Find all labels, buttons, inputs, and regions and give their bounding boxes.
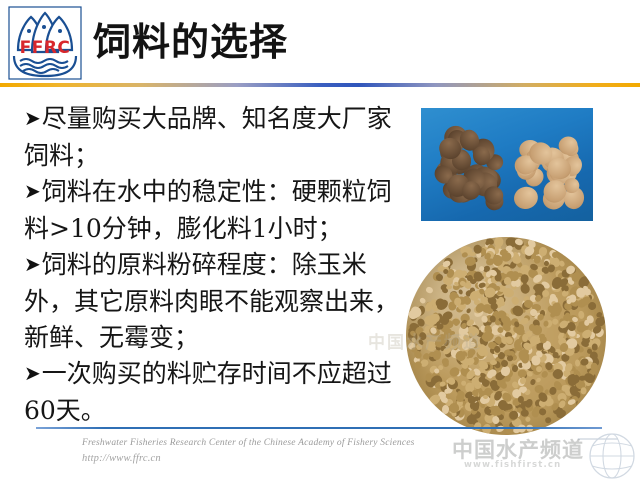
footer-organization: Freshwater Fisheries Research Center of …: [82, 436, 502, 466]
bullet-paragraph-2: ➤饲料在水中的稳定性：硬颗粒饲料>10分钟，膨化料1小时；: [24, 174, 414, 247]
bullet-paragraph-4-text: 一次购买的料贮存时间不应超过60天。: [24, 359, 392, 425]
ffrc-logo-icon: FFRC: [8, 6, 82, 80]
photo-feed-pellets-comparison: [421, 108, 593, 221]
svg-text:FFRC: FFRC: [20, 38, 71, 58]
bullet-paragraph-2-text: 饲料在水中的稳定性：硬颗粒饲料>10分钟，膨化料1小时；: [24, 177, 392, 243]
slide-header: FFRC 饲料的选择: [0, 0, 640, 86]
footer-url[interactable]: http://www.ffrc.cn: [82, 451, 502, 466]
bullet-paragraph-3: ➤饲料的原料粉碎程度：除玉米外，其它原料肉眼不能观察出来，新鲜、无霉变；: [24, 247, 414, 356]
header-divider: [0, 83, 640, 87]
bullet-paragraph-1: ➤尽量购买大品牌、知名度大厂家饲料；: [24, 101, 414, 174]
footer-organization-text: Freshwater Fisheries Research Center of …: [82, 436, 502, 451]
bullet-paragraph-4: ➤一次购买的料贮存时间不应超过60天。: [24, 356, 414, 429]
photo-extruded-pellet-pile: [398, 233, 614, 439]
bullet-arrow-icon: ➤: [24, 100, 41, 136]
footer-divider: [36, 427, 602, 429]
pellet-pile-disc: [406, 237, 606, 435]
bullet-arrow-icon: ➤: [24, 246, 41, 282]
page-title: 饲料的选择: [93, 14, 513, 72]
slide-body-text: ➤尽量购买大品牌、知名度大厂家饲料； ➤饲料在水中的稳定性：硬颗粒饲料>10分钟…: [24, 101, 414, 429]
bullet-arrow-icon: ➤: [24, 355, 41, 391]
bullet-paragraph-1-text: 尽量购买大品牌、知名度大厂家饲料；: [24, 104, 392, 170]
presentation-slide: FFRC 饲料的选择 ➤尽量购买大品牌、知名度大厂家饲料； ➤饲料在水中的稳定性…: [0, 0, 640, 480]
bullet-arrow-icon: ➤: [24, 173, 41, 209]
bullet-paragraph-3-text: 饲料的原料粉碎程度：除玉米外，其它原料肉眼不能观察出来，新鲜、无霉变；: [24, 250, 399, 352]
